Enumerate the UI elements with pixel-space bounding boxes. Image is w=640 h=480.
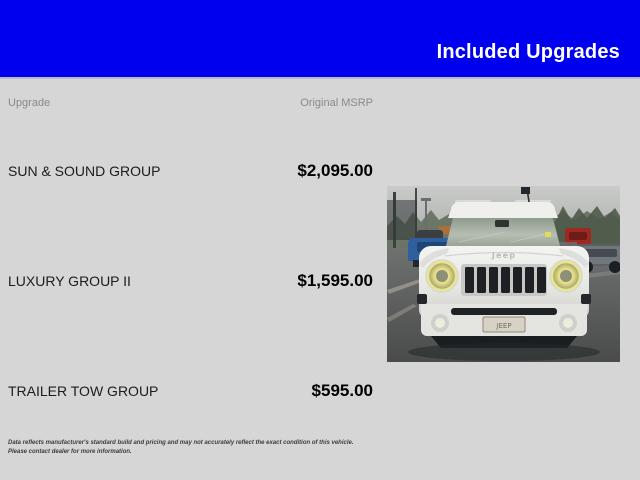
table-row: LUXURY GROUP II $1,595.00 xyxy=(0,271,380,293)
table-row: SUN & SOUND GROUP $2,095.00 xyxy=(0,161,380,183)
vehicle-photo: Jeep JEEP xyxy=(387,186,620,362)
column-header-msrp: Original MSRP xyxy=(300,97,373,109)
upgrade-name: LUXURY GROUP II xyxy=(8,271,131,291)
table-header-row: Upgrade Original MSRP xyxy=(0,97,380,113)
disclaimer-text: Data reflects manufacturer's standard bu… xyxy=(8,439,408,456)
upgrade-price: $595.00 xyxy=(312,381,373,401)
upgrade-price: $1,595.00 xyxy=(297,271,373,291)
upgrade-price: $2,095.00 xyxy=(297,161,373,181)
upgrade-name: SUN & SOUND GROUP xyxy=(8,161,160,181)
vehicle-photo-image: Jeep JEEP xyxy=(387,186,620,362)
page-title: Included Upgrades xyxy=(437,41,620,64)
table-row: TRAILER TOW GROUP $595.00 xyxy=(0,381,380,403)
page-header: Included Upgrades xyxy=(0,0,640,77)
upgrade-name: TRAILER TOW GROUP xyxy=(8,381,158,401)
svg-text:Jeep: Jeep xyxy=(491,251,516,260)
column-header-upgrade: Upgrade xyxy=(8,97,50,109)
disclaimer-line-1: Data reflects manufacturer's standard bu… xyxy=(8,439,408,448)
svg-text:JEEP: JEEP xyxy=(495,322,511,330)
disclaimer-line-2: Please contact dealer for more informati… xyxy=(8,448,408,457)
